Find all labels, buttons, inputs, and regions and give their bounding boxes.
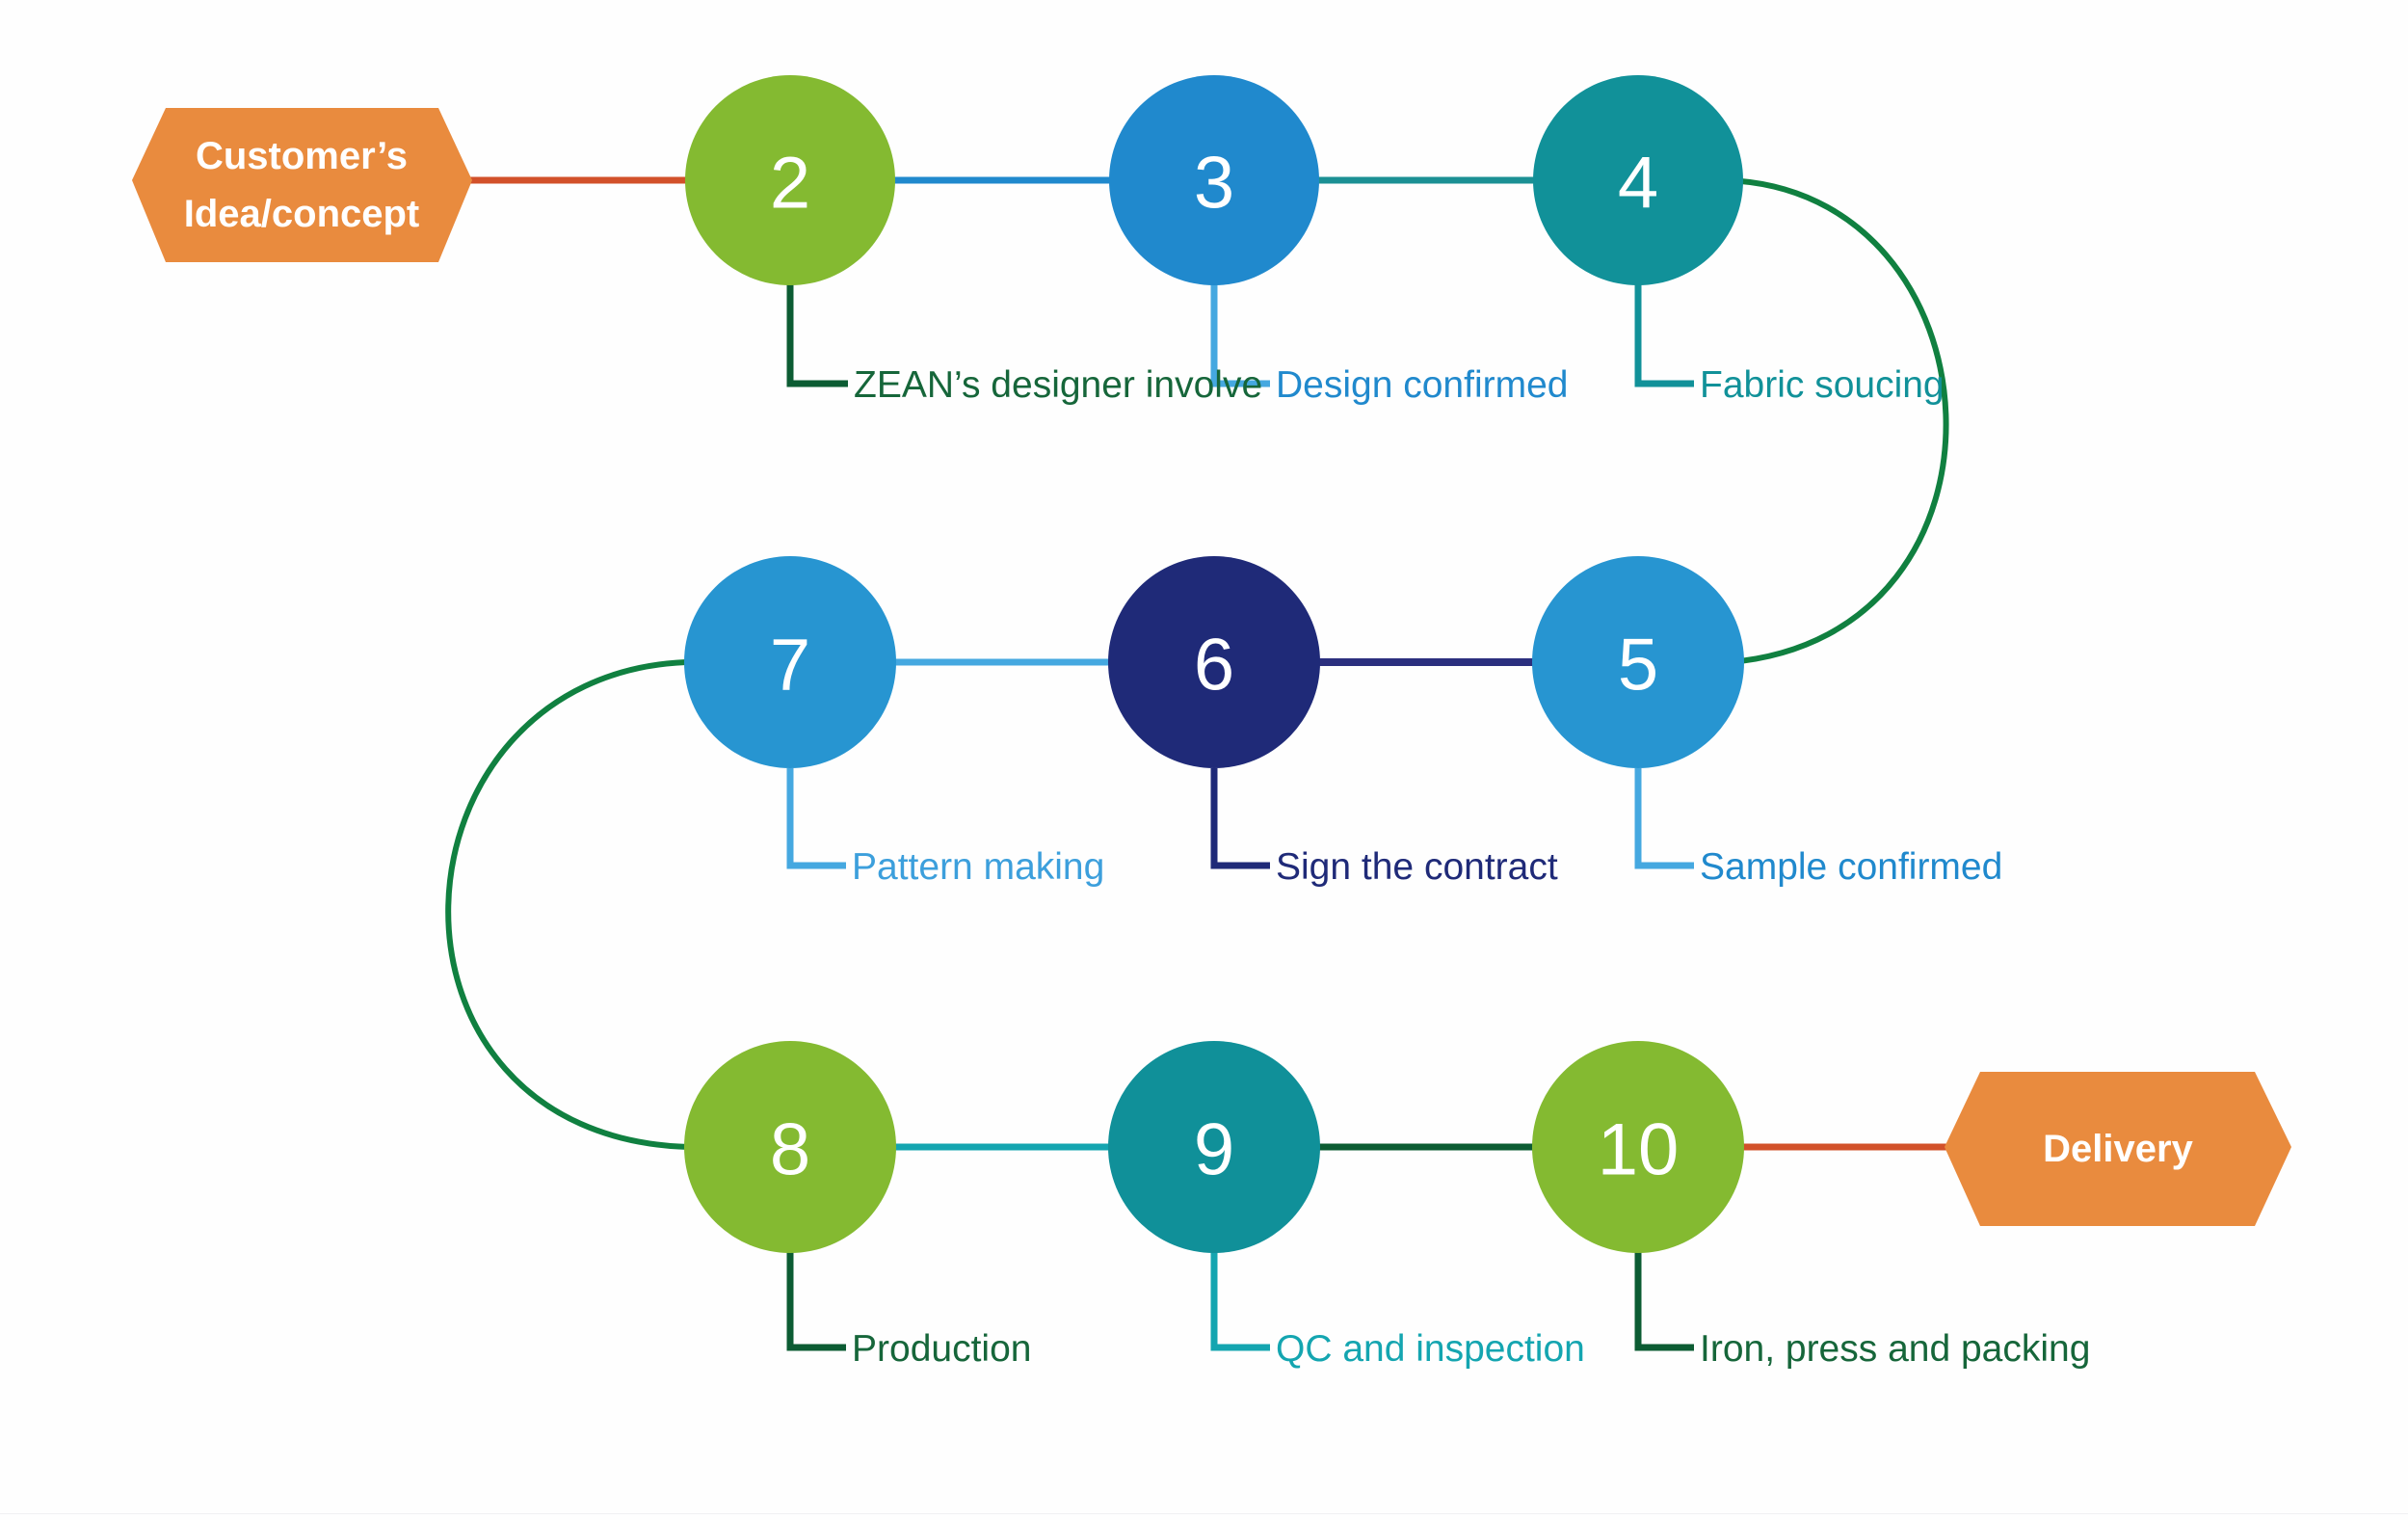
curve-connector-7-to-8 — [448, 662, 689, 1147]
step-node-6[interactable]: 6 — [1108, 556, 1320, 768]
bottom-divider — [0, 1513, 2408, 1514]
leader-line-step-4 — [1638, 284, 1694, 384]
step-label-3: Design confirmed — [1276, 364, 1568, 406]
step-node-7-number: 7 — [770, 625, 810, 707]
leader-line-step-8 — [790, 1251, 846, 1347]
step-node-5[interactable]: 5 — [1532, 556, 1744, 768]
step-node-3-number: 3 — [1194, 143, 1234, 225]
step-node-5-number: 5 — [1618, 625, 1658, 707]
step-node-8-number: 8 — [770, 1109, 810, 1191]
step-node-8[interactable]: 8 — [684, 1041, 896, 1253]
step-label-2: ZEAN’s designer involve — [854, 364, 1262, 406]
step-node-2[interactable]: 2 — [685, 75, 895, 285]
start-node[interactable]: Customer’s Idea/concept — [132, 108, 472, 262]
process-flow-diagram: Customer’s Idea/concept Delivery 2 3 4 7 — [0, 0, 2408, 1520]
step-label-6: Sign the contract — [1276, 846, 1558, 888]
diagram-canvas: Customer’s Idea/concept Delivery 2 3 4 7 — [0, 0, 2408, 1520]
start-node-label-line1: Customer’s — [196, 135, 408, 177]
end-node[interactable]: Delivery — [1945, 1072, 2291, 1226]
step-label-7: Pattern making — [852, 846, 1104, 888]
end-node-label: Delivery — [2043, 1128, 2193, 1170]
step-node-4[interactable]: 4 — [1533, 75, 1743, 285]
step-node-9[interactable]: 9 — [1108, 1041, 1320, 1253]
step-node-9-number: 9 — [1194, 1109, 1234, 1191]
step-node-10[interactable]: 10 — [1532, 1041, 1744, 1253]
step-node-2-number: 2 — [770, 143, 810, 225]
start-node-label-line2: Idea/concept — [184, 193, 420, 235]
leader-line-step-5 — [1638, 768, 1694, 866]
leader-line-step-10 — [1638, 1251, 1694, 1347]
leader-line-step-2 — [790, 284, 848, 384]
step-label-10: Iron, press and packing — [1700, 1328, 2090, 1370]
step-label-8: Production — [852, 1328, 1031, 1370]
step-label-9: QC and inspection — [1276, 1328, 1585, 1370]
step-node-4-number: 4 — [1618, 143, 1658, 225]
step-node-10-number: 10 — [1598, 1109, 1680, 1191]
leader-line-step-9 — [1214, 1251, 1270, 1347]
leader-line-step-6 — [1214, 768, 1270, 866]
step-label-5: Sample confirmed — [1700, 846, 2002, 888]
step-node-7[interactable]: 7 — [684, 556, 896, 768]
step-node-3[interactable]: 3 — [1109, 75, 1319, 285]
start-node-shape — [132, 108, 472, 262]
step-node-6-number: 6 — [1194, 625, 1234, 707]
leader-line-step-7 — [790, 768, 846, 866]
curve-connector-4-to-5 — [1725, 180, 1946, 662]
step-label-4: Fabric soucing — [1700, 364, 1945, 406]
